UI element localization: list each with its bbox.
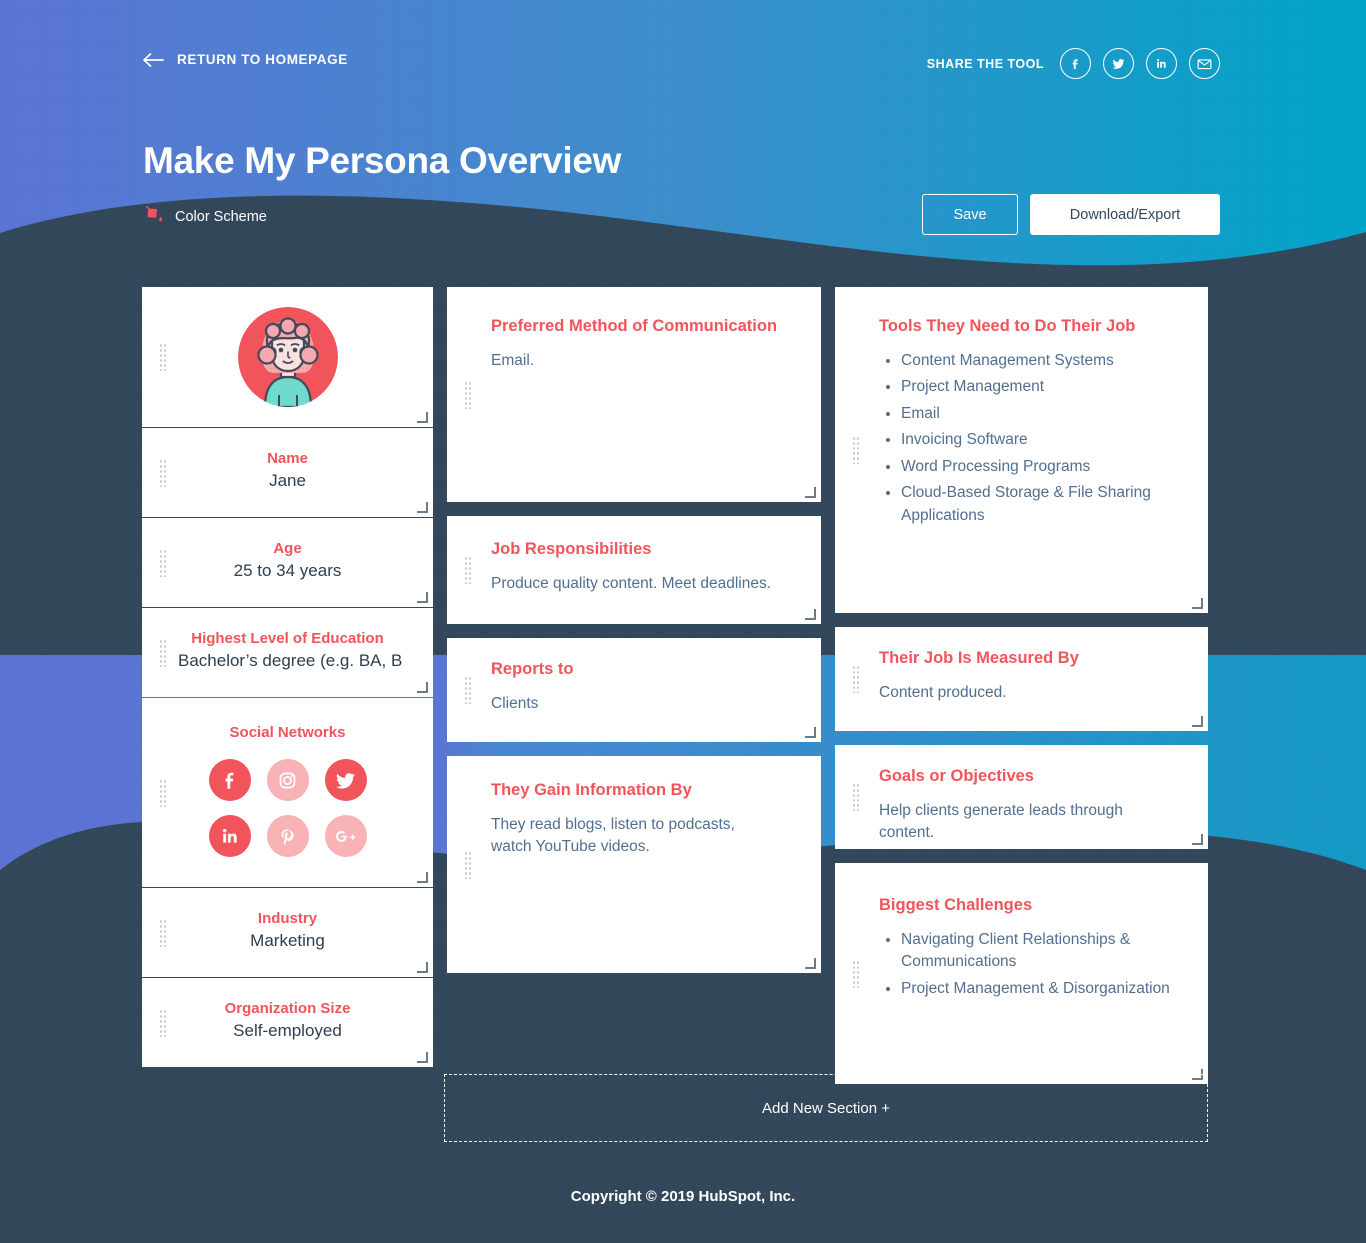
card-body[interactable]: Clients xyxy=(491,693,785,715)
drag-handle[interactable] xyxy=(159,549,166,577)
field-label-name: Name xyxy=(172,450,403,467)
list-item: Cloud-Based Storage & File Sharing Appli… xyxy=(901,482,1151,527)
resize-handle[interactable] xyxy=(806,728,816,738)
card-goals-or-objectives[interactable]: Goals or Objectives Help clients generat… xyxy=(835,745,1208,849)
field-label-industry: Industry xyxy=(172,910,403,927)
card-body[interactable]: They read blogs, listen to podcasts, wat… xyxy=(491,814,766,859)
resize-handle[interactable] xyxy=(418,963,428,973)
resize-handle[interactable] xyxy=(806,610,816,620)
card-body[interactable]: Email. xyxy=(491,350,785,372)
card-industry[interactable]: Industry Marketing xyxy=(142,888,433,977)
card-social-networks[interactable]: Social Networks xyxy=(142,698,433,887)
card-title: Biggest Challenges xyxy=(879,896,1172,915)
facebook-icon[interactable] xyxy=(209,759,251,801)
field-value-name[interactable]: Jane xyxy=(172,471,403,491)
field-value-age[interactable]: 25 to 34 years xyxy=(172,561,403,581)
card-they-gain-information-by[interactable]: They Gain Information By They read blogs… xyxy=(447,756,821,973)
card-preferred-communication[interactable]: Preferred Method of Communication Email. xyxy=(447,287,821,502)
drag-handle[interactable] xyxy=(159,343,166,371)
drag-handle[interactable] xyxy=(159,639,166,667)
drag-handle[interactable] xyxy=(464,556,471,584)
paint-bucket-icon xyxy=(141,202,165,231)
linkedin-share-icon[interactable] xyxy=(1146,48,1177,79)
social-icon-grid xyxy=(188,759,388,857)
footer-copyright: Copyright © 2019 HubSpot, Inc. xyxy=(0,1188,1366,1205)
field-label-age: Age xyxy=(172,540,403,557)
share-the-tool-block: SHARE THE TOOL xyxy=(927,48,1220,79)
tools-list: Content Management Systems Project Manag… xyxy=(879,350,1172,527)
card-name[interactable]: Name Jane xyxy=(142,428,433,517)
drag-handle[interactable] xyxy=(159,919,166,947)
resize-handle[interactable] xyxy=(1193,717,1203,727)
card-title: Reports to xyxy=(491,660,785,679)
resize-handle[interactable] xyxy=(1193,835,1203,845)
card-biggest-challenges[interactable]: Biggest Challenges Navigating Client Rel… xyxy=(835,863,1208,1084)
card-title: Preferred Method of Communication xyxy=(491,317,785,336)
top-bar: RETURN TO HOMEPAGE SHARE THE TOOL xyxy=(0,0,1366,130)
field-value-industry[interactable]: Marketing xyxy=(172,931,403,951)
list-item: Project Management xyxy=(901,376,1172,398)
drag-handle[interactable] xyxy=(852,783,859,811)
add-new-section-button[interactable]: Add New Section + xyxy=(444,1074,1208,1142)
resize-handle[interactable] xyxy=(418,873,428,883)
card-title: Goals or Objectives xyxy=(879,767,1172,786)
return-to-homepage-label: RETURN TO HOMEPAGE xyxy=(177,52,348,67)
pinterest-icon[interactable] xyxy=(267,815,309,857)
resize-handle[interactable] xyxy=(418,503,428,513)
card-body[interactable]: Produce quality content. Meet deadlines. xyxy=(491,573,785,595)
field-label-organization-size: Organization Size xyxy=(172,1000,403,1017)
drag-handle[interactable] xyxy=(464,851,471,879)
instagram-icon[interactable] xyxy=(267,759,309,801)
share-the-tool-label: SHARE THE TOOL xyxy=(927,57,1044,71)
persona-column-middle: Preferred Method of Communication Email.… xyxy=(447,287,821,987)
resize-handle[interactable] xyxy=(418,413,428,423)
card-body[interactable]: Help clients generate leads through cont… xyxy=(879,800,1172,845)
card-title: Job Responsibilities xyxy=(491,540,785,559)
field-value-organization-size[interactable]: Self-employed xyxy=(172,1021,403,1041)
card-education[interactable]: Highest Level of Education Bachelor’s de… xyxy=(142,608,433,697)
resize-handle[interactable] xyxy=(418,1053,428,1063)
persona-avatar-female xyxy=(238,307,338,407)
card-avatar[interactable] xyxy=(142,287,433,427)
resize-handle[interactable] xyxy=(806,488,816,498)
social-networks-label: Social Networks xyxy=(142,724,433,741)
facebook-share-icon[interactable] xyxy=(1060,48,1091,79)
card-organization-size[interactable]: Organization Size Self-employed xyxy=(142,978,433,1067)
color-scheme-button[interactable]: Color Scheme xyxy=(141,202,267,231)
arrow-left-icon xyxy=(143,53,165,67)
page-title: Make My Persona Overview xyxy=(143,140,621,183)
save-button[interactable]: Save xyxy=(922,194,1018,235)
persona-board: Name Jane Age 25 to 34 years Highest Lev… xyxy=(142,287,1208,1098)
googleplus-icon[interactable] xyxy=(325,815,367,857)
list-item: Word Processing Programs xyxy=(901,456,1172,478)
resize-handle[interactable] xyxy=(418,683,428,693)
drag-handle[interactable] xyxy=(852,960,859,988)
card-body[interactable]: Navigating Client Relationships & Commun… xyxy=(879,929,1172,1000)
resize-handle[interactable] xyxy=(418,593,428,603)
download-export-button[interactable]: Download/Export xyxy=(1030,194,1220,235)
drag-handle[interactable] xyxy=(852,665,859,693)
list-item: Email xyxy=(901,403,1172,425)
twitter-share-icon[interactable] xyxy=(1103,48,1134,79)
list-item: Navigating Client Relationships & Commun… xyxy=(901,929,1141,974)
list-item: Invoicing Software xyxy=(901,429,1172,451)
action-buttons: Save Download/Export xyxy=(922,194,1220,235)
drag-handle[interactable] xyxy=(159,459,166,487)
list-item: Content Management Systems xyxy=(901,350,1172,372)
persona-column-left: Name Jane Age 25 to 34 years Highest Lev… xyxy=(142,287,433,1068)
card-reports-to[interactable]: Reports to Clients xyxy=(447,638,821,742)
card-title: Tools They Need to Do Their Job xyxy=(879,317,1172,336)
return-to-homepage-link[interactable]: RETURN TO HOMEPAGE xyxy=(143,52,348,67)
card-tools-they-need[interactable]: Tools They Need to Do Their Job Content … xyxy=(835,287,1208,613)
color-scheme-label: Color Scheme xyxy=(175,209,267,225)
resize-handle[interactable] xyxy=(806,959,816,969)
email-share-icon[interactable] xyxy=(1189,48,1220,79)
drag-handle[interactable] xyxy=(464,381,471,409)
drag-handle[interactable] xyxy=(464,676,471,704)
card-body[interactable]: Content produced. xyxy=(879,682,1172,704)
card-age[interactable]: Age 25 to 34 years xyxy=(142,518,433,607)
card-title: They Gain Information By xyxy=(491,781,785,800)
card-body[interactable]: Content Management Systems Project Manag… xyxy=(879,350,1172,527)
field-value-education[interactable]: Bachelor’s degree (e.g. BA, BS) xyxy=(172,651,403,671)
drag-handle[interactable] xyxy=(159,779,166,807)
challenges-list: Navigating Client Relationships & Commun… xyxy=(879,929,1172,1000)
field-label-education: Highest Level of Education xyxy=(172,630,403,647)
persona-column-right: Tools They Need to Do Their Job Content … xyxy=(835,287,1208,1098)
drag-handle[interactable] xyxy=(159,1009,166,1037)
card-title: Their Job Is Measured By xyxy=(879,649,1172,668)
twitter-icon[interactable] xyxy=(325,759,367,801)
resize-handle[interactable] xyxy=(1193,599,1203,609)
list-item: Project Management & Disorganization xyxy=(901,978,1172,1000)
card-their-job-is-measured-by[interactable]: Their Job Is Measured By Content produce… xyxy=(835,627,1208,731)
linkedin-icon[interactable] xyxy=(209,815,251,857)
drag-handle[interactable] xyxy=(852,436,859,464)
card-job-responsibilities[interactable]: Job Responsibilities Produce quality con… xyxy=(447,516,821,624)
